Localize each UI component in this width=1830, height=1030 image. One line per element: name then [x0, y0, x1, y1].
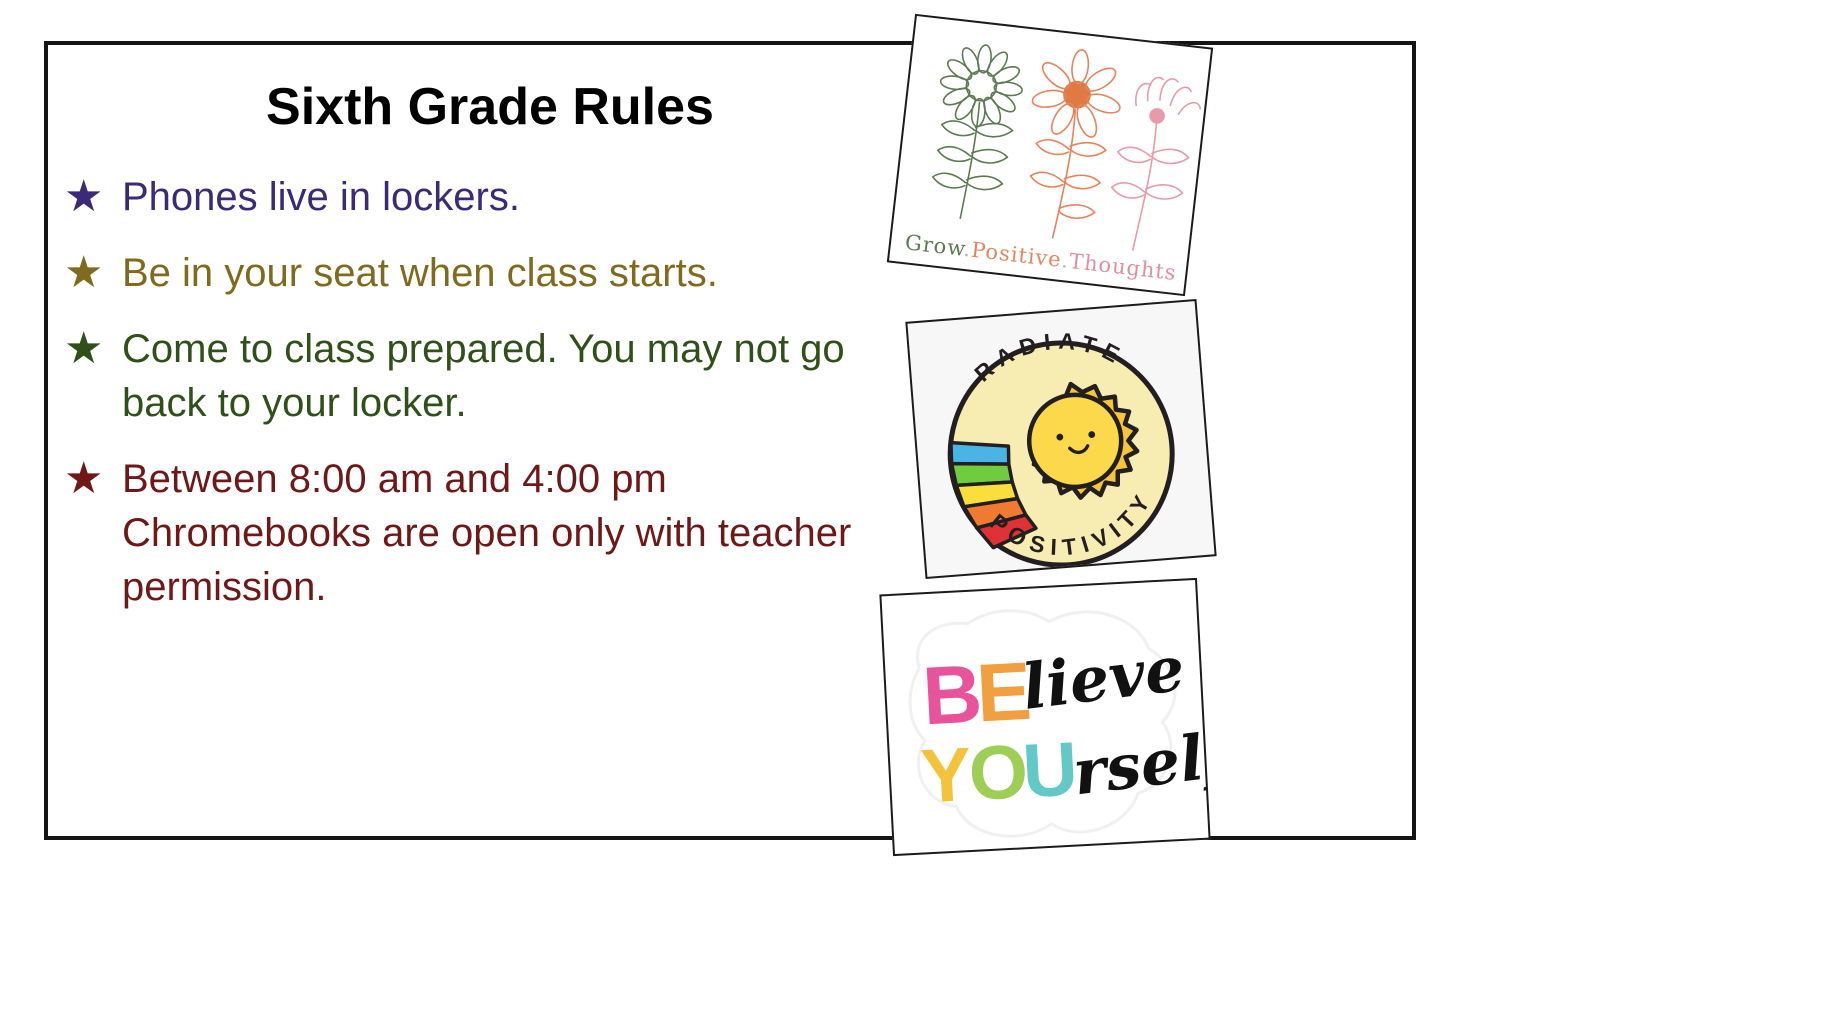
list-item: ★ Come to class prepared. You may not go…: [60, 322, 890, 430]
image-card-believe-in-yourself: B E lieve in Y O U rself: [879, 578, 1210, 856]
slide-canvas: Sixth Grade Rules ★ Phones live in locke…: [0, 0, 1830, 1030]
image-card-grow-positive-thoughts: Grow.Positive.Thoughts: [887, 14, 1213, 296]
star-bullet-icon: ★: [60, 452, 122, 506]
believe-line2-block-letters: Y O U: [919, 726, 1080, 819]
rule-text: Between 8:00 am and 4:00 pm Chromebooks …: [122, 452, 890, 614]
letter-y: Y: [919, 732, 974, 820]
rule-text: Be in your seat when class starts.: [122, 246, 890, 300]
believe-line1-block-letters: B E: [920, 646, 1033, 743]
page-title: Sixth Grade Rules: [60, 76, 920, 138]
image-card-radiate-positivity: RADIATE POSITIVITY: [905, 299, 1216, 579]
list-item: ★ Phones live in lockers.: [60, 170, 890, 224]
list-item: ★ Between 8:00 am and 4:00 pm Chromebook…: [60, 452, 890, 614]
rule-text: Phones live in lockers.: [122, 170, 890, 224]
star-bullet-icon: ★: [60, 246, 122, 300]
rules-list: ★ Phones live in lockers. ★ Be in your s…: [60, 170, 890, 636]
believe-in-yourself-sticker-icon: B E lieve in Y O U rself: [888, 592, 1211, 856]
radiate-positivity-sun-icon: RADIATE POSITIVITY: [916, 304, 1205, 579]
star-bullet-icon: ★: [60, 170, 122, 224]
list-item: ★ Be in your seat when class starts.: [60, 246, 890, 300]
rule-text: Come to class prepared. You may not go b…: [122, 322, 890, 430]
star-bullet-icon: ★: [60, 322, 122, 376]
